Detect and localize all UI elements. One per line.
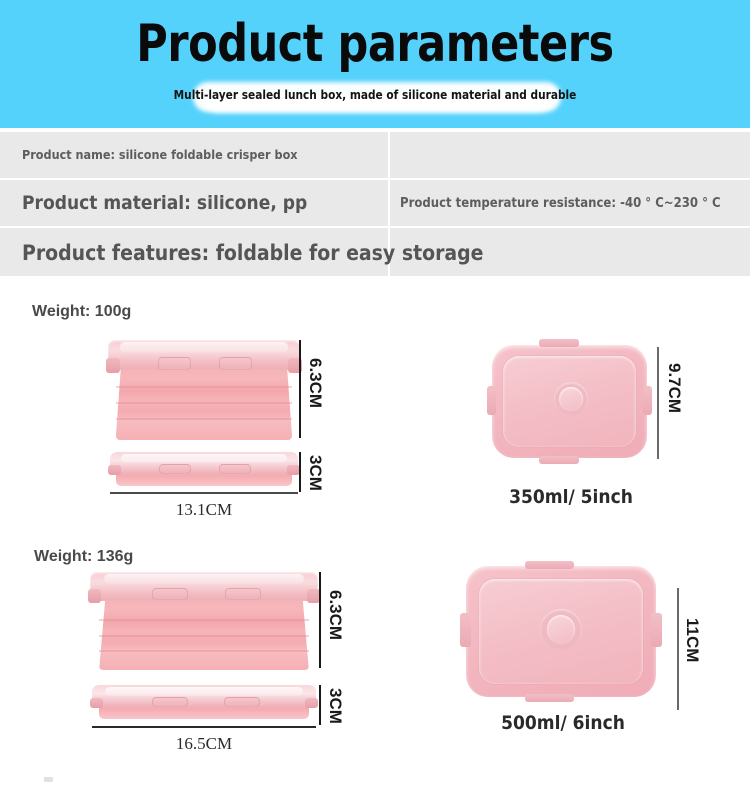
dimension-line-height-500ml-topview bbox=[677, 588, 679, 710]
side-ear-right bbox=[305, 698, 318, 708]
dimension-label-11cm: 11CM bbox=[682, 618, 702, 662]
latch-clip bbox=[219, 464, 251, 475]
product-image-350ml-topview bbox=[492, 345, 647, 458]
dimension-label-6-3cm-350ml: 6.3CM bbox=[305, 358, 325, 408]
lid-highlight bbox=[104, 574, 305, 584]
side-ear-left bbox=[88, 589, 102, 604]
dimension-label-9-7cm: 9.7CM bbox=[664, 363, 684, 413]
latch-clip bbox=[159, 464, 191, 475]
product-image-350ml-collapsed bbox=[110, 452, 298, 486]
dimension-line-height-350ml-expanded bbox=[299, 340, 301, 438]
spec-temperature-resistance: Product temperature resistance: -40 ° C~… bbox=[400, 180, 721, 226]
table-row: Product name: silicone foldable crisper … bbox=[0, 130, 750, 178]
weight-label-500ml: Weight: 136g bbox=[34, 548, 133, 566]
latch-clip bbox=[219, 357, 252, 370]
latch-tab-top bbox=[539, 339, 579, 347]
fold-line bbox=[116, 402, 293, 404]
latch-clip bbox=[225, 588, 261, 601]
product-image-500ml-expanded bbox=[90, 572, 318, 670]
dimension-line-height-350ml-topview bbox=[657, 347, 659, 459]
page-title: Product parameters bbox=[30, 14, 720, 74]
dimension-label-6-3cm-500ml: 6.3CM bbox=[325, 590, 345, 640]
fold-line bbox=[116, 418, 293, 420]
table-row: Product features: foldable for easy stor… bbox=[0, 228, 750, 278]
capacity-label-350ml: 350ml/ 5inch bbox=[460, 486, 682, 508]
lid-highlight bbox=[121, 454, 286, 462]
page-header: Product parameters Multi-layer sealed lu… bbox=[0, 0, 750, 128]
dimension-line-width-350ml bbox=[110, 492, 298, 494]
vent-button-icon bbox=[547, 615, 576, 644]
latch-tab-bottom bbox=[539, 456, 579, 464]
latch-clip bbox=[224, 697, 260, 708]
latch-clip bbox=[158, 357, 191, 370]
image-artifact bbox=[44, 777, 53, 782]
dimension-label-16-5cm: 16.5CM bbox=[92, 734, 316, 754]
weight-label-350ml: Weight: 100g bbox=[32, 303, 131, 321]
latch-tab-right bbox=[643, 386, 652, 415]
latch-tab-left bbox=[460, 613, 470, 647]
latch-tab-right bbox=[651, 613, 661, 647]
dimension-line-height-350ml-collapsed bbox=[299, 452, 301, 492]
spec-product-material: Product material: silicone, pp bbox=[22, 180, 307, 226]
dimension-label-3cm-500ml: 3CM bbox=[325, 688, 345, 724]
lid bbox=[110, 452, 298, 473]
silicone-body bbox=[99, 597, 309, 670]
latch-clip bbox=[152, 697, 188, 708]
fold-line bbox=[99, 635, 309, 637]
spec-product-name: Product name: silicone foldable crisper … bbox=[22, 130, 298, 178]
latch-tab-bottom bbox=[525, 694, 574, 702]
dimension-line-height-500ml-collapsed bbox=[319, 685, 321, 725]
lid-highlight bbox=[105, 687, 302, 695]
table-row: Product material: silicone, pp Product t… bbox=[0, 180, 750, 226]
spec-product-features: Product features: foldable for easy stor… bbox=[22, 228, 484, 278]
product-image-350ml-expanded bbox=[108, 340, 300, 440]
capacity-label-500ml: 500ml/ 6inch bbox=[450, 712, 676, 734]
latch-tab-top bbox=[525, 561, 574, 569]
lid bbox=[90, 572, 318, 601]
vent-button-icon bbox=[559, 387, 582, 411]
lid-highlight bbox=[120, 342, 289, 352]
fold-line bbox=[99, 650, 309, 652]
lid bbox=[92, 685, 316, 706]
dimension-line-height-500ml-expanded bbox=[319, 572, 321, 668]
side-ear-right bbox=[287, 465, 300, 475]
side-ear-left bbox=[90, 698, 103, 708]
fold-line bbox=[116, 386, 293, 388]
latch-clip bbox=[152, 588, 188, 601]
fold-line bbox=[99, 619, 309, 621]
product-image-500ml-collapsed bbox=[92, 685, 316, 719]
side-ear-left bbox=[106, 358, 119, 373]
spec-table: Product name: silicone foldable crisper … bbox=[0, 130, 750, 278]
lid bbox=[108, 340, 300, 370]
dimension-label-13-1cm: 13.1CM bbox=[110, 500, 298, 520]
side-ear-left bbox=[108, 465, 121, 475]
dimension-line-width-500ml bbox=[92, 726, 316, 728]
dimension-label-3cm-350ml: 3CM bbox=[305, 455, 325, 491]
product-image-500ml-topview bbox=[466, 566, 656, 697]
latch-tab-left bbox=[487, 386, 496, 415]
page-subtitle: Multi-layer sealed lunch box, made of si… bbox=[23, 86, 728, 104]
